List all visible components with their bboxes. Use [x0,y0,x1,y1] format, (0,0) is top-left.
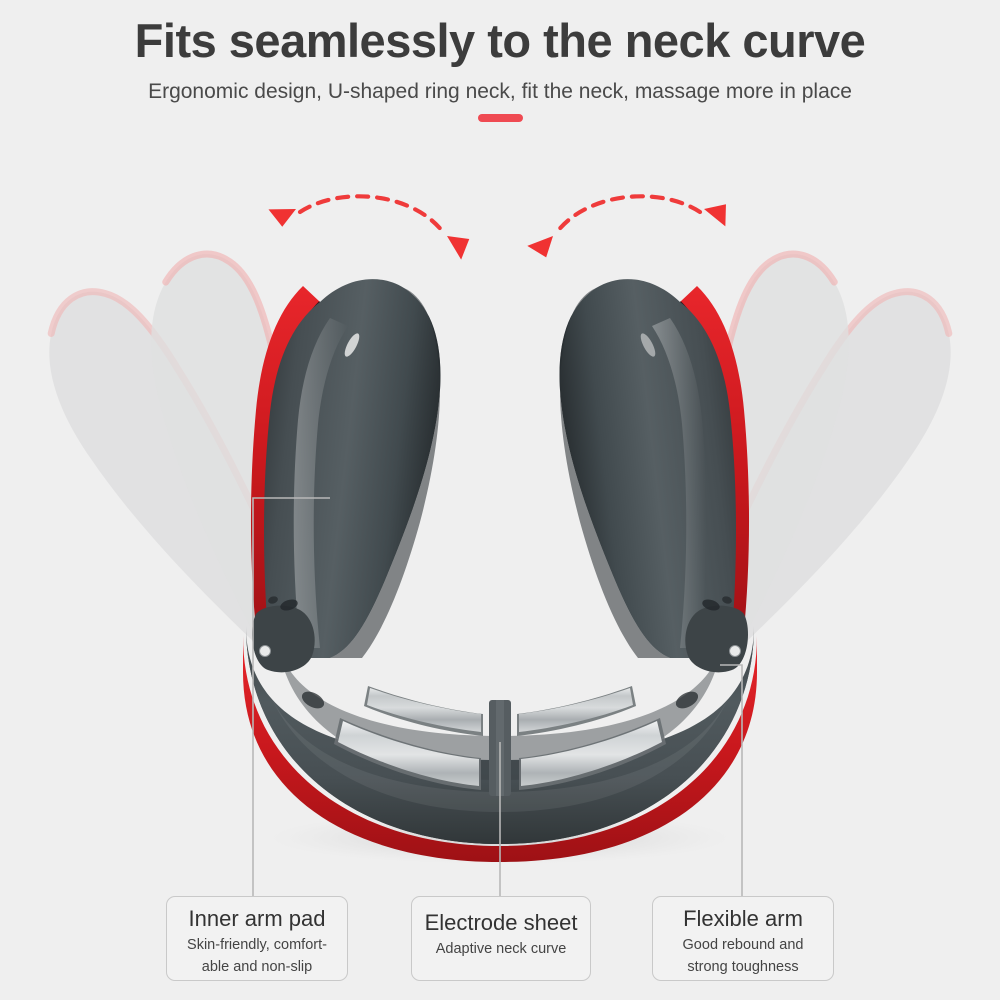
caption-desc-line1: Good rebound and [653,933,833,955]
right-flex-arrow-path [557,196,700,232]
caption-desc-line2: able and non-slip [167,955,347,977]
right-flex-arrow [527,196,732,262]
caption-desc-line1: Skin-friendly, comfort- [167,933,347,955]
hinge-right-body [685,606,748,673]
caption-electrode-sheet[interactable]: Electrode sheet Adaptive neck curve [411,896,591,981]
hinge-left-body [252,606,315,673]
flexible-arm-left [251,279,441,658]
caption-title: Inner arm pad [167,906,347,933]
caption-desc-line2: strong toughness [653,955,833,977]
right-flex-arrow-head-end [527,229,560,262]
caption-flexible-arm[interactable]: Flexible arm Good rebound and strong tou… [652,896,834,981]
caption-title: Electrode sheet [412,910,590,937]
caption-desc-line1: Adaptive neck curve [412,937,590,959]
left-flex-arrow-head-end [441,227,474,260]
flexible-arm-right [560,279,750,658]
left-flex-arrow-path [300,196,443,232]
caption-inner-arm-pad[interactable]: Inner arm pad Skin-friendly, comfort- ab… [166,896,348,981]
caption-title: Flexible arm [653,906,833,933]
right-flex-arrow-head-start [701,198,733,227]
product-illustration-svg [0,0,1000,1000]
product-illustration [0,0,1000,1000]
infographic-page: Fits seamlessly to the neck curve Ergono… [0,0,1000,1000]
left-flex-arrow-head-start [268,201,300,230]
left-flex-arrow [268,196,474,259]
